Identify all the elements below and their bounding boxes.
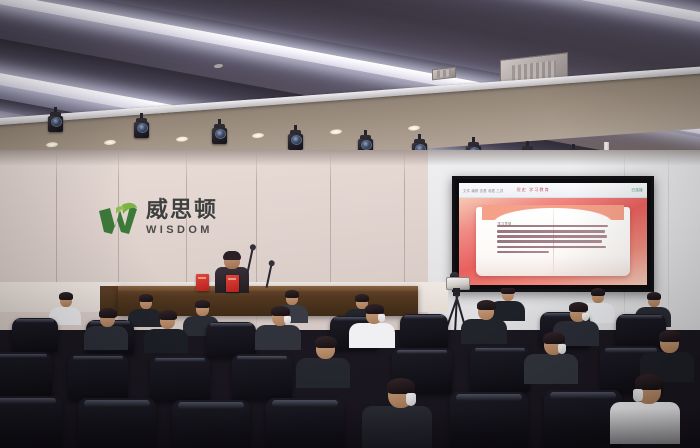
auditorium-seat (68, 354, 128, 400)
recessed-downlight-icon (408, 125, 420, 131)
auditorium-seat (0, 352, 52, 396)
stage-light-fixture (48, 112, 63, 134)
auditorium-seat (450, 392, 528, 448)
logo-chinese-name: 威思顿 (146, 200, 218, 222)
browser-address-text: 文件 编辑 查看 收藏 工具 (463, 188, 503, 193)
stage-light-fixture (212, 124, 227, 146)
recessed-downlight-icon (46, 142, 58, 148)
slide-doc-title: 党史 学习教育 (516, 187, 549, 193)
auditorium-seat (266, 398, 344, 448)
auditorium-seat (232, 354, 292, 400)
auditorium-seat (150, 356, 210, 402)
recessed-downlight-icon (104, 139, 116, 145)
auditorium-seat (78, 398, 156, 448)
auditorium-seat (206, 322, 256, 358)
projection-screen: 文件 编辑 查看 收藏 工具 党史 学习教育 已连接 学习贯彻 (452, 176, 654, 292)
auditorium-photo: 威思顿 WISDOM 文件 编辑 查看 收藏 工具 党史 学习教育 已连接 学习… (0, 0, 700, 448)
open-book-graphic-icon: 学习贯彻 (476, 207, 630, 277)
smoke-detector-icon (214, 64, 223, 69)
company-logo: 威思顿 WISDOM (96, 192, 236, 244)
auditorium-seat (470, 346, 530, 392)
slide-body-text (497, 225, 608, 254)
stage-light-fixture (288, 130, 303, 152)
auditorium-seat (0, 396, 62, 448)
audience-seating (0, 288, 700, 448)
green-w-leaf-logo-icon (96, 196, 140, 240)
recessed-downlight-icon (176, 136, 188, 142)
slide-browser-bar: 文件 编辑 查看 收藏 工具 党史 学习教育 已连接 (459, 183, 647, 198)
logo-english-name: WISDOM (146, 225, 218, 236)
auditorium-seat (616, 314, 666, 350)
browser-status-text: 已连接 (631, 188, 643, 193)
presentation-slide: 学习贯彻 (459, 198, 647, 285)
stage-light-fixture (134, 118, 149, 140)
ceiling-light-strip (299, 0, 700, 50)
auditorium-seat (400, 314, 448, 348)
recessed-downlight-icon (330, 129, 342, 135)
auditorium-seat (12, 318, 58, 352)
auditorium-seat (172, 400, 250, 448)
recessed-downlight-icon (252, 133, 264, 139)
